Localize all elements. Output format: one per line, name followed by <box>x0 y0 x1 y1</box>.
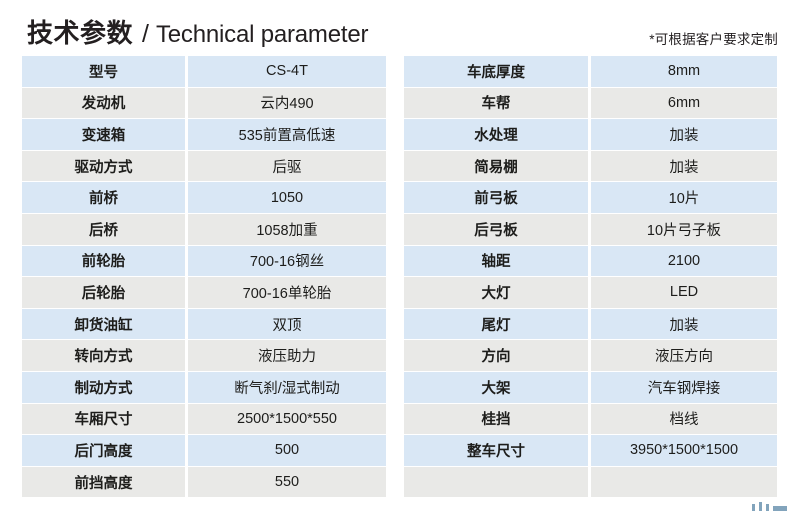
spec-label: 卸货油缸 <box>22 309 185 340</box>
spec-label: 车底厚度 <box>404 56 588 87</box>
table-row: 后轮胎700-16单轮胎 <box>22 277 386 308</box>
spec-value: 2100 <box>591 246 777 277</box>
spec-label: 桂挡 <box>404 404 588 435</box>
table-row: 后桥1058加重 <box>22 214 386 245</box>
spec-value: 断气刹/湿式制动 <box>188 372 386 403</box>
spec-label: 发动机 <box>22 88 185 119</box>
spec-label: 尾灯 <box>404 309 588 340</box>
watermark-bar-2 <box>759 502 762 511</box>
page-title-chinese: 技术参数 <box>27 13 133 50</box>
table-row: 大灯LED <box>404 277 777 308</box>
spec-value: 8mm <box>591 56 777 87</box>
spec-label: 前轮胎 <box>22 246 185 277</box>
spec-value: 500 <box>188 435 386 466</box>
table-row: 尾灯加装 <box>404 309 777 340</box>
table-row: 后弓板10片弓子板 <box>404 214 777 245</box>
spec-value: 535前置高低速 <box>188 119 386 150</box>
spec-value: LED <box>591 277 777 308</box>
spec-value: 10片弓子板 <box>591 214 777 245</box>
spec-table-right: 车底厚度8mm车帮6mm水处理加装简易棚加装前弓板10片后弓板10片弓子板轴距2… <box>404 56 777 498</box>
table-row <box>404 467 777 498</box>
spec-value: 2500*1500*550 <box>188 404 386 435</box>
spec-value: 加装 <box>591 119 777 150</box>
table-row: 大架汽车钢焊接 <box>404 372 777 403</box>
spec-label: 简易棚 <box>404 151 588 182</box>
table-row: 发动机云内490 <box>22 88 386 119</box>
spec-value: 液压方向 <box>591 340 777 371</box>
table-row: 车厢尺寸2500*1500*550 <box>22 404 386 435</box>
spec-value: 1050 <box>188 182 386 213</box>
spec-value: 6mm <box>591 88 777 119</box>
spec-value: 汽车钢焊接 <box>591 372 777 403</box>
table-row: 前弓板10片 <box>404 182 777 213</box>
customization-note: *可根据客户要求定制 <box>649 28 778 48</box>
spec-value: 加装 <box>591 151 777 182</box>
table-row: 变速箱535前置高低速 <box>22 119 386 150</box>
watermark-bar-3 <box>766 504 769 511</box>
page-title-english: Technical parameter <box>156 21 368 49</box>
spec-label: 前桥 <box>22 182 185 213</box>
table-row: 轴距2100 <box>404 246 777 277</box>
watermark-bar-4 <box>773 506 787 511</box>
table-row: 驱动方式后驱 <box>22 151 386 182</box>
table-row: 整车尺寸3950*1500*1500 <box>404 435 777 466</box>
spec-value: 后驱 <box>188 151 386 182</box>
spec-value: CS-4T <box>188 56 386 87</box>
spec-value: 550 <box>188 467 386 498</box>
table-row: 前桥1050 <box>22 182 386 213</box>
spec-label: 方向 <box>404 340 588 371</box>
spec-value: 700-16钢丝 <box>188 246 386 277</box>
table-row: 水处理加装 <box>404 119 777 150</box>
spec-label: 大灯 <box>404 277 588 308</box>
spec-label: 型号 <box>22 56 185 87</box>
table-row: 制动方式断气刹/湿式制动 <box>22 372 386 403</box>
spec-label: 后门高度 <box>22 435 185 466</box>
table-row: 型号CS-4T <box>22 56 386 87</box>
spec-value: 液压助力 <box>188 340 386 371</box>
spec-label: 前挡高度 <box>22 467 185 498</box>
watermark-bar-1 <box>752 504 755 511</box>
table-row: 前挡高度550 <box>22 467 386 498</box>
spec-value: 档线 <box>591 404 777 435</box>
spec-label: 大架 <box>404 372 588 403</box>
table-row: 转向方式液压助力 <box>22 340 386 371</box>
spec-label: 整车尺寸 <box>404 435 588 466</box>
table-row: 桂挡档线 <box>404 404 777 435</box>
spec-table-left: 型号CS-4T发动机云内490变速箱535前置高低速驱动方式后驱前桥1050后桥… <box>22 56 386 498</box>
spec-label: 车厢尺寸 <box>22 404 185 435</box>
spec-value: 700-16单轮胎 <box>188 277 386 308</box>
spec-value: 加装 <box>591 309 777 340</box>
table-row: 前轮胎700-16钢丝 <box>22 246 386 277</box>
spec-value <box>591 467 777 498</box>
page-title: 技术参数 / Technical parameter <box>27 13 368 50</box>
spec-label: 后弓板 <box>404 214 588 245</box>
page-header: 技术参数 / Technical parameter *可根据客户要求定制 <box>0 0 800 55</box>
table-row: 后门高度500 <box>22 435 386 466</box>
spec-label: 驱动方式 <box>22 151 185 182</box>
table-row: 方向液压方向 <box>404 340 777 371</box>
spec-label: 转向方式 <box>22 340 185 371</box>
spec-label: 变速箱 <box>22 119 185 150</box>
spec-value: 1058加重 <box>188 214 386 245</box>
watermark-logo <box>752 499 788 511</box>
spec-label <box>404 467 588 498</box>
spec-label: 后桥 <box>22 214 185 245</box>
table-row: 卸货油缸双顶 <box>22 309 386 340</box>
table-row: 简易棚加装 <box>404 151 777 182</box>
spec-label: 前弓板 <box>404 182 588 213</box>
title-separator: / <box>142 20 149 49</box>
spec-label: 后轮胎 <box>22 277 185 308</box>
spec-label: 水处理 <box>404 119 588 150</box>
spec-value: 双顶 <box>188 309 386 340</box>
table-row: 车底厚度8mm <box>404 56 777 87</box>
table-row: 车帮6mm <box>404 88 777 119</box>
spec-value: 3950*1500*1500 <box>591 435 777 466</box>
spec-label: 车帮 <box>404 88 588 119</box>
spec-label: 制动方式 <box>22 372 185 403</box>
spec-value: 云内490 <box>188 88 386 119</box>
spec-value: 10片 <box>591 182 777 213</box>
spec-label: 轴距 <box>404 246 588 277</box>
